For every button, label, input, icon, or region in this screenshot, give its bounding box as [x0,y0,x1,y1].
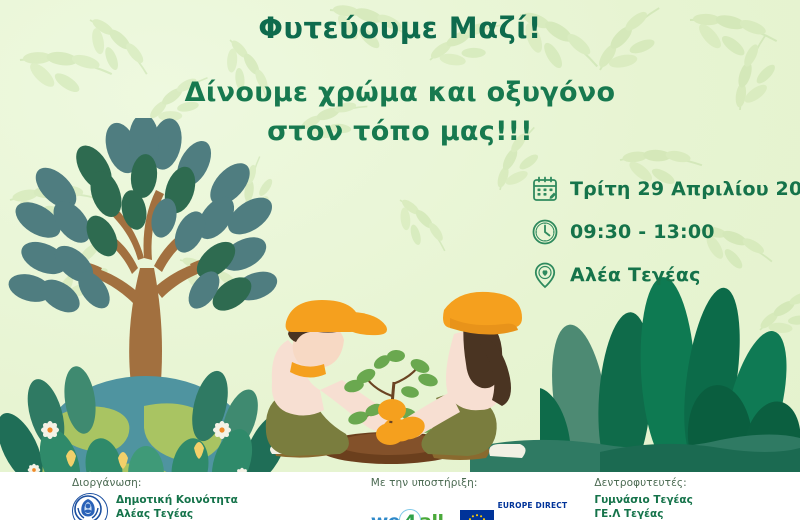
detail-row-date: Τρίτη 29 Απριλίου 2025 [528,172,800,206]
planters-names: Γυμνάσιο Τεγέας ΓΕ.Λ Τεγέας [594,493,800,520]
organizer-name-line-1: Δημοτική Κοινότητα [116,494,238,506]
detail-date-text: Τρίτη 29 Απριλίου 2025 [570,178,800,200]
planters-caption: Δεντροφυτευτές: [594,477,800,489]
organizer-name: Δημοτική Κοινότητα Αλέας Τεγέας [116,493,238,520]
detail-row-location: Αλέα Τεγέας [528,258,800,292]
we4all-circle [399,509,421,520]
footer-support: Με την υποστήριξη: we4all [319,472,577,520]
headline-block: Φυτεύουμε Μαζί! Δίνουμε χρώμα και οξυγόν… [0,14,800,151]
subtitle-line-1: Δίνουμε χρώμα και οξυγόνο [0,73,800,112]
detail-location-text: Αλέα Τεγέας [570,264,701,286]
footer: Διοργάνωση: Δημοτική Κοινότητα [0,472,800,520]
event-details: Τρίτη 29 Απριλίου 2025 09:30 - 13:00 [528,172,800,301]
clock-icon [528,215,562,249]
we4all-part-we: we [371,511,400,520]
municipality-seal-logo [72,493,108,520]
we4all-part-all: all [419,511,443,520]
detail-row-time: 09:30 - 13:00 [528,215,800,249]
europe-direct-logo: EUROPE DIRECT Πελοποννήσου Peloponnisos [460,493,568,520]
calendar-icon [528,172,562,206]
planters-name-line-1: Γυμνάσιο Τεγέας [594,494,692,506]
detail-time-text: 09:30 - 13:00 [570,221,715,243]
europe-direct-text: EUROPE DIRECT Πελοποννήσου Peloponnisos [498,493,568,520]
europe-direct-title: EUROPE DIRECT [498,501,568,510]
subtitle-line-2: στον τόπο μας!!! [0,112,800,151]
planters-name-line-2: ΓΕ.Λ Τεγέας [594,508,663,520]
support-caption: Με την υποστήριξη: [371,477,577,489]
location-pin-icon [528,258,562,292]
eu-flag-icon [460,510,494,520]
subtitle-block: Δίνουμε χρώμα και οξυγόνο στον τόπο μας!… [0,73,800,151]
children-planting-sapling-illustration [258,268,528,473]
footer-organizer: Διοργάνωση: Δημοτική Κοινότητα [0,472,319,520]
we4all-part-4: 4 [400,511,419,520]
organizer-name-line-2: Αλέας Τεγέας [116,508,193,520]
page-title: Φυτεύουμε Μαζί! [0,14,800,43]
footer-planters: Δεντροφυτευτές: Γυμνάσιο Τεγέας ΓΕ.Λ Τεγ… [576,472,800,520]
poster-canvas: Φυτεύουμε Μαζί! Δίνουμε χρώμα και οξυγόν… [0,0,800,520]
organizer-caption: Διοργάνωση: [72,477,319,489]
we4all-logo: we4all [371,511,444,520]
tree-on-globe-illustration [0,118,294,480]
